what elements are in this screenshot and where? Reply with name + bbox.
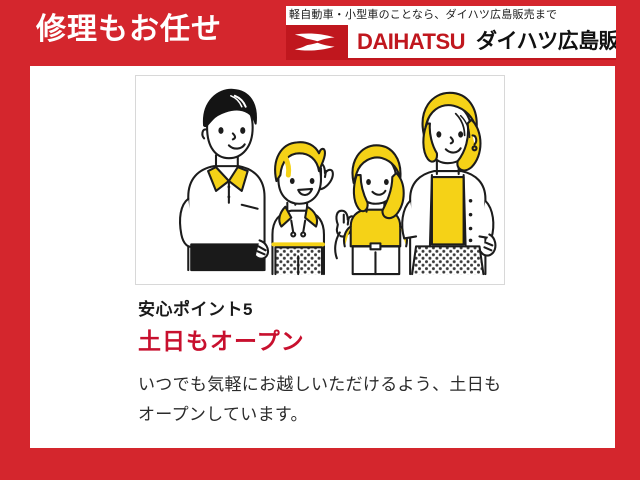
logo-row: DAIHATSU ダイハツ広島販売 xyxy=(286,25,616,58)
logo-underline xyxy=(286,58,616,60)
point-label: 安心ポイント5 xyxy=(138,298,538,322)
logo-dealer-name: ダイハツ広島販売 xyxy=(465,25,616,58)
logo-wordmark: DAIHATSU xyxy=(348,25,465,58)
logo-tagline: 軽自動車・小型車のことなら、ダイハツ広島販売まで xyxy=(286,6,616,25)
daihatsu-logo-lockup: 軽自動車・小型車のことなら、ダイハツ広島販売まで DAIHATSU ダイハツ広島… xyxy=(286,6,616,60)
point-text-block: 安心ポイント5 土日もオープン いつでも気軽にお越しいただけるよう、土日もオープ… xyxy=(138,298,538,430)
content-panel: 安心ポイント5 土日もオープン いつでも気軽にお越しいただけるよう、土日もオープ… xyxy=(30,66,615,448)
family-illustration-frame xyxy=(135,75,505,285)
footer-band xyxy=(0,448,640,480)
page-title: 修理もお任せ xyxy=(36,11,222,49)
slide-root: 修理もお任せ 軽自動車・小型車のことなら、ダイハツ広島販売まで DAIHATSU… xyxy=(0,0,640,480)
family-illustration xyxy=(136,76,504,284)
daihatsu-d-mark-icon xyxy=(286,25,348,58)
point-body-text: いつでも気軽にお越しいただけるよう、土日もオープンしています。 xyxy=(138,370,508,430)
header-band: 修理もお任せ 軽自動車・小型車のことなら、ダイハツ広島販売まで DAIHATSU… xyxy=(0,0,640,66)
point-title: 土日もオープン xyxy=(138,325,538,357)
